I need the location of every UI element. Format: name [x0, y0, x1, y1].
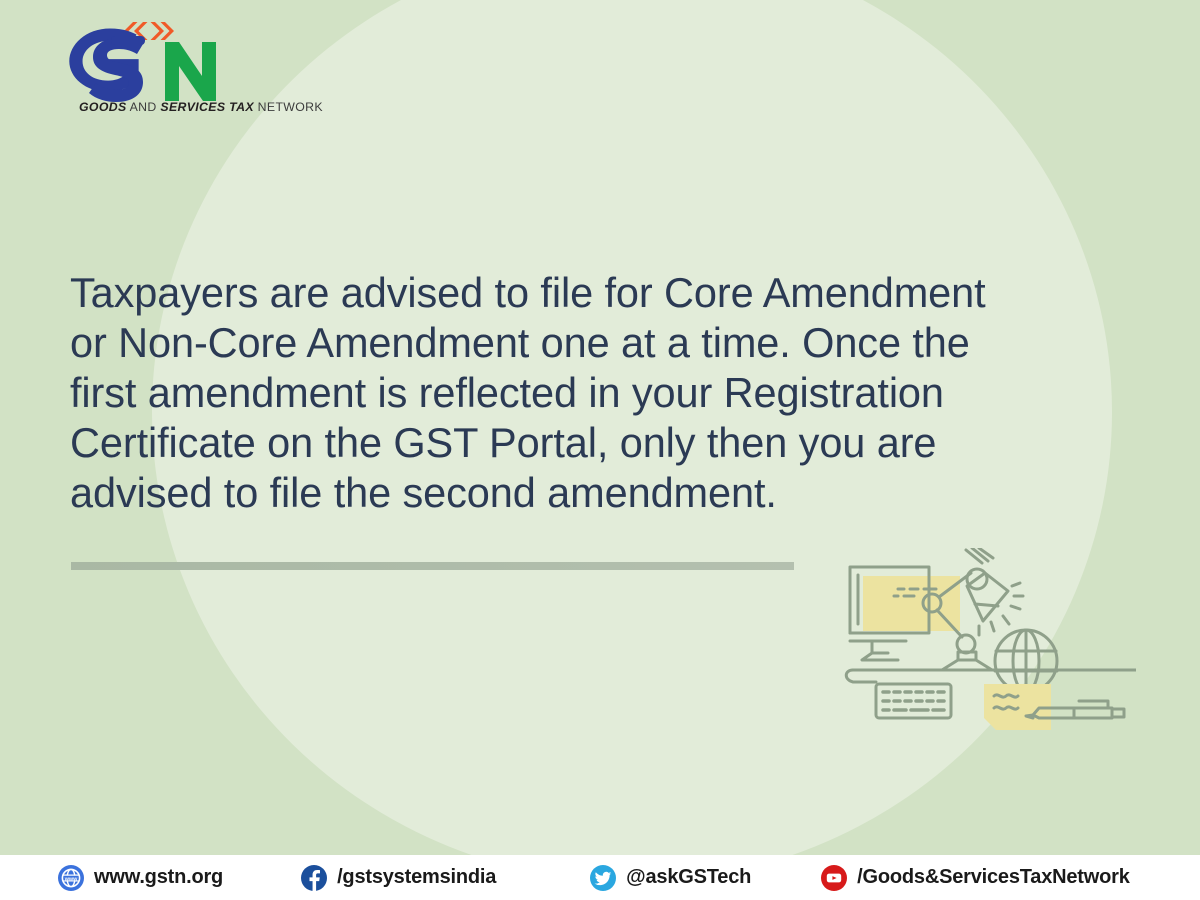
- message-line-1: Taxpayers are advised to file for Core A…: [70, 268, 1132, 318]
- logo-tagline: GOODS AND SERVICES TAX NETWORK: [79, 100, 323, 114]
- tagline-network: NETWORK: [254, 100, 323, 114]
- gstn-logo: GOODS AND SERVICES TAX NETWORK: [55, 16, 285, 121]
- footer-item-website[interactable]: www www.gstn.org: [58, 865, 223, 891]
- facebook-icon: [301, 865, 327, 891]
- keyboard-icon: [876, 684, 951, 718]
- footer-label-youtube: /Goods&ServicesTaxNetwork: [857, 866, 1130, 889]
- poster-canvas: GOODS AND SERVICES TAX NETWORK Taxpayers…: [0, 0, 1200, 900]
- youtube-icon: [821, 865, 847, 891]
- globe-www-icon: www: [58, 865, 84, 891]
- twitter-icon: [590, 865, 616, 891]
- footer-label-twitter: @askGSTech: [626, 866, 751, 889]
- gstn-logo-mark: [55, 16, 285, 102]
- tagline-and: AND: [127, 100, 161, 114]
- tagline-services-tax: SERVICES TAX: [160, 100, 253, 114]
- logo-letter-n: [165, 42, 216, 101]
- footer-item-youtube[interactable]: /Goods&ServicesTaxNetwork: [821, 865, 1130, 891]
- footer-label-facebook: /gstsystemsindia: [337, 866, 496, 889]
- globe-icon: [995, 630, 1057, 692]
- message-line-3: first amendment is reflected in your Reg…: [70, 368, 1132, 418]
- footer-item-twitter[interactable]: @askGSTech: [590, 865, 751, 891]
- tagline-goods: GOODS: [79, 100, 127, 114]
- monitor-screen-fill: [863, 576, 960, 631]
- advisory-message: Taxpayers are advised to file for Core A…: [70, 268, 1132, 518]
- message-line-2: or Non-Core Amendment one at a time. Onc…: [70, 318, 1132, 368]
- svg-text:www: www: [64, 876, 78, 882]
- logo-letter-s: [89, 38, 143, 102]
- divider-rule: [71, 562, 794, 570]
- desk-workspace-illustration: [836, 548, 1136, 730]
- footer-label-website: www.gstn.org: [94, 866, 223, 889]
- cable-icon: [846, 670, 876, 682]
- message-line-4: Certificate on the GST Portal, only then…: [70, 418, 1132, 468]
- footer-item-facebook[interactable]: /gstsystemsindia: [301, 865, 496, 891]
- social-footer-bar: www www.gstn.org /gstsystemsindia @askGS…: [0, 855, 1200, 900]
- message-line-5: advised to file the second amendment.: [70, 468, 1132, 518]
- logo-letter-t: [111, 36, 145, 45]
